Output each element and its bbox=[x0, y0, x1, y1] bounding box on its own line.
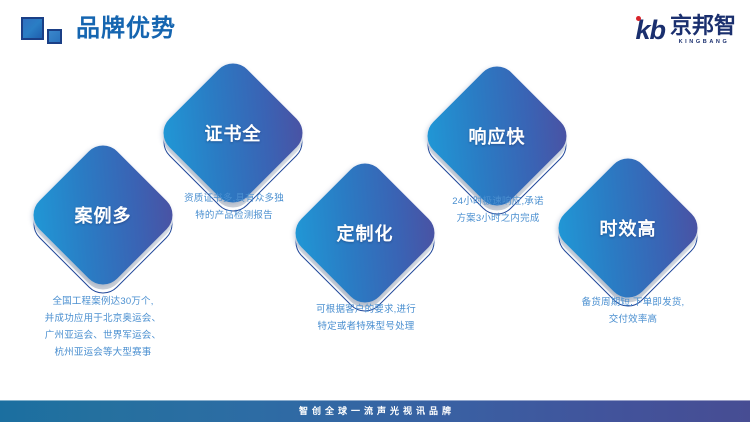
diamond-shape: 定制化 bbox=[310, 178, 420, 288]
diamond-shape: 时效高 bbox=[573, 173, 683, 283]
feature-caption-1: 全国工程案例达30万个, 并成功应用于北京奥运会、 广州亚运会、世界军运会、 杭… bbox=[8, 293, 198, 361]
feature-card-1[interactable]: 案例多 bbox=[48, 160, 158, 270]
diamond-shape: 案例多 bbox=[48, 160, 158, 270]
logo-english-text: KINGBANG bbox=[677, 38, 730, 46]
square-small-icon bbox=[47, 29, 62, 44]
feature-caption-5: 备货周期短,下单即发货, 交付效率高 bbox=[543, 294, 723, 328]
feature-card-5[interactable]: 时效高 bbox=[573, 173, 683, 283]
feature-card-4[interactable]: 响应快 bbox=[442, 81, 552, 191]
logo-chinese-text: 京邦智 bbox=[670, 15, 736, 37]
feature-caption-3: 可根据客户的要求,进行 特定或者特殊型号处理 bbox=[275, 301, 457, 335]
diamond-shape: 证书全 bbox=[178, 78, 288, 188]
feature-label: 时效高 bbox=[573, 173, 683, 283]
slide-root: 品牌优势 kb 京邦智 KINGBANG 案例多 全国工程案例达30万个, 并成… bbox=[0, 0, 750, 422]
logo-monogram: kb bbox=[635, 15, 669, 45]
slide-footer: 智创全球一流声光视讯品牌 bbox=[0, 400, 750, 422]
header-marker-group bbox=[21, 17, 67, 47]
feature-label: 定制化 bbox=[310, 178, 420, 288]
page-title: 品牌优势 bbox=[76, 13, 176, 45]
feature-card-3[interactable]: 定制化 bbox=[310, 178, 420, 288]
feature-label: 证书全 bbox=[178, 78, 288, 188]
footer-slogan: 智创全球一流声光视讯品牌 bbox=[295, 400, 455, 422]
square-large-icon bbox=[21, 17, 44, 40]
diamond-shape: 响应快 bbox=[442, 81, 552, 191]
feature-label: 响应快 bbox=[442, 81, 552, 191]
feature-caption-2: 资质证书多,具有众多独 特的产品检测报告 bbox=[148, 190, 320, 224]
feature-label: 案例多 bbox=[48, 160, 158, 270]
feature-card-2[interactable]: 证书全 bbox=[178, 78, 288, 188]
brand-logo: kb 京邦智 KINGBANG bbox=[635, 14, 736, 46]
logo-wordmark: 京邦智 KINGBANG bbox=[670, 15, 736, 46]
